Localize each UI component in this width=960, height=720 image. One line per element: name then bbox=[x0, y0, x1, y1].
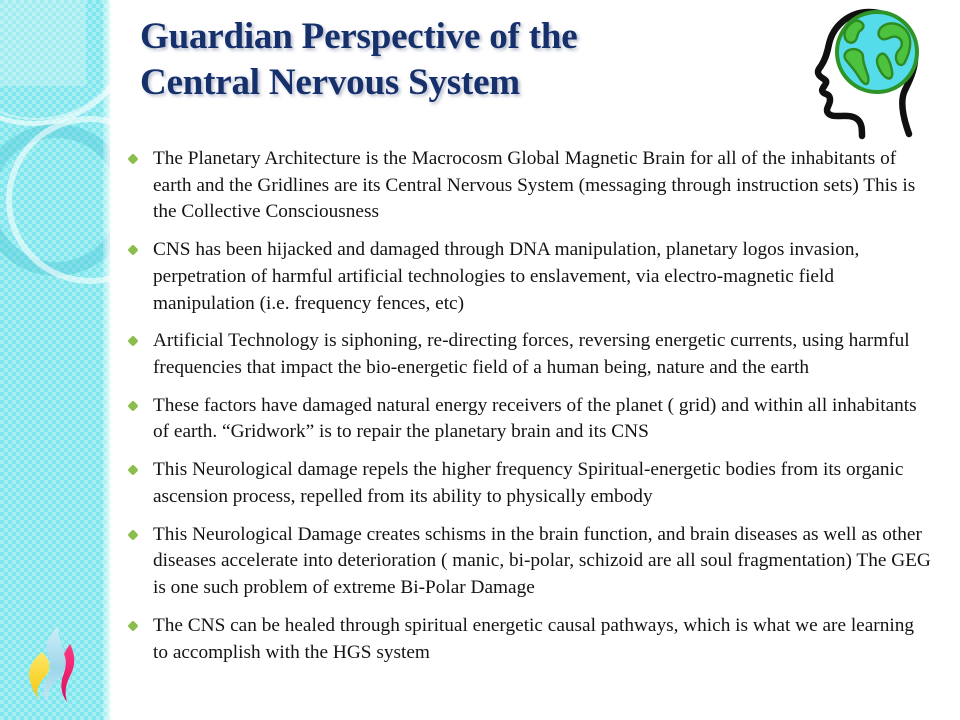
tri-flame-logo-icon bbox=[18, 620, 92, 708]
list-item: These factors have damaged natural energ… bbox=[124, 393, 932, 446]
title-line-1: Guardian Perspective of the bbox=[140, 14, 760, 60]
sidebar-edge-highlight bbox=[103, 0, 110, 720]
list-item-text: Artificial Technology is siphoning, re-d… bbox=[153, 330, 910, 378]
bullet-diamond-icon bbox=[127, 620, 138, 631]
list-item: The CNS can be healed through spiritual … bbox=[124, 613, 932, 666]
bullet-diamond-icon bbox=[127, 400, 138, 411]
slide-title: Guardian Perspective of the Central Nerv… bbox=[140, 14, 760, 105]
bullet-diamond-icon bbox=[127, 529, 138, 540]
bullet-list: The Planetary Architecture is the Macroc… bbox=[124, 146, 932, 666]
title-line-2: Central Nervous System bbox=[140, 60, 760, 106]
bullet-diamond-icon bbox=[127, 336, 138, 347]
list-item: CNS has been hijacked and damaged throug… bbox=[124, 237, 932, 317]
decorative-sidebar bbox=[0, 0, 110, 720]
list-item: This Neurological Damage creates schisms… bbox=[124, 522, 932, 602]
list-item: The Planetary Architecture is the Macroc… bbox=[124, 146, 932, 226]
list-item-text: This Neurological damage repels the high… bbox=[153, 459, 903, 507]
list-item-text: The Planetary Architecture is the Macroc… bbox=[153, 148, 915, 222]
list-item-text: The CNS can be healed through spiritual … bbox=[153, 615, 914, 663]
list-item: This Neurological damage repels the high… bbox=[124, 457, 932, 510]
list-item-text: CNS has been hijacked and damaged throug… bbox=[153, 239, 859, 313]
list-item-text: This Neurological Damage creates schisms… bbox=[153, 524, 931, 598]
bullet-diamond-icon bbox=[127, 465, 138, 476]
head-with-globe-icon bbox=[805, 2, 955, 144]
list-item: Artificial Technology is siphoning, re-d… bbox=[124, 328, 932, 381]
bullet-diamond-icon bbox=[127, 244, 138, 255]
slide: Guardian Perspective of the Central Nerv… bbox=[0, 0, 960, 720]
list-item-text: These factors have damaged natural energ… bbox=[153, 395, 917, 443]
bullet-diamond-icon bbox=[127, 153, 138, 164]
